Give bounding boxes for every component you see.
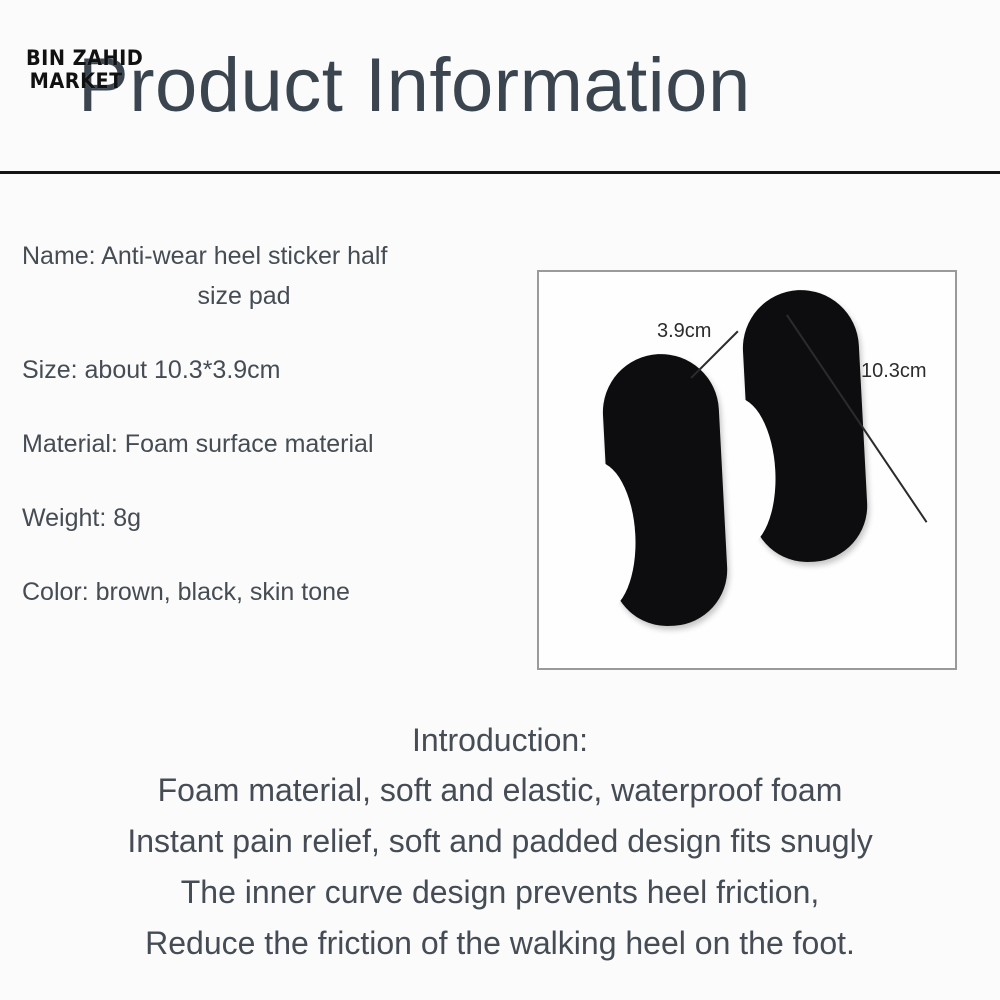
spec-row-color: Color: brown, black, skin tone: [0, 572, 520, 612]
introduction-section: Introduction: Foam material, soft and el…: [0, 715, 1000, 969]
watermark-line-2: MARKET: [30, 70, 144, 93]
header-divider: [0, 171, 1000, 174]
introduction-line-4: Reduce the friction of the walking heel …: [0, 918, 1000, 969]
brand-watermark: BIN ZAHID MARKET: [26, 47, 143, 93]
heel-pad-lower: [600, 351, 730, 629]
dimension-label-length: 10.3cm: [861, 360, 927, 383]
dimension-label-width: 3.9cm: [657, 320, 711, 343]
product-photo: 3.9cm 10.3cm: [537, 270, 957, 670]
introduction-line-2: Instant pain relief, soft and padded des…: [0, 816, 1000, 867]
introduction-line-3: The inner curve design prevents heel fri…: [0, 867, 1000, 918]
page-header: Product Information BIN ZAHID MARKET: [0, 0, 1000, 173]
spec-row-size: Size: about 10.3*3.9cm: [0, 350, 520, 390]
spec-name-line2: size pad: [22, 276, 502, 316]
spec-row-material: Material: Foam surface material: [0, 424, 520, 464]
page-title: Product Information: [78, 48, 751, 124]
watermark-line-1: BIN ZAHID: [26, 46, 143, 70]
heel-pad-upper: [740, 287, 870, 565]
introduction-line-1: Foam material, soft and elastic, waterpr…: [0, 765, 1000, 816]
spec-row-weight: Weight: 8g: [0, 498, 520, 538]
spec-list: Name: Anti-wear heel sticker half size p…: [0, 236, 520, 646]
spec-row-name: Name: Anti-wear heel sticker half size p…: [0, 236, 520, 316]
product-photo-canvas: 3.9cm 10.3cm: [539, 272, 955, 668]
introduction-heading: Introduction:: [0, 715, 1000, 765]
spec-name-line1: Name: Anti-wear heel sticker half: [22, 242, 387, 270]
heel-pad-lower-inner-curve: [559, 460, 639, 614]
